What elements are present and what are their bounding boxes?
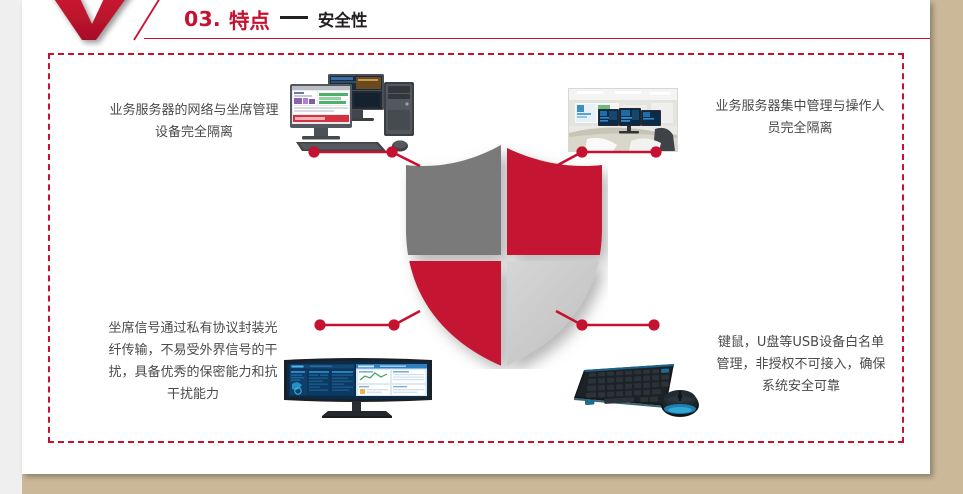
header-underline	[144, 38, 930, 39]
section-title: 特点	[229, 4, 270, 34]
title-dash-rule	[280, 16, 308, 19]
security-shield-graphic	[400, 143, 608, 369]
caption-top-right: 业务服务器集中管理与操作人员完全隔离	[712, 96, 888, 140]
caption-bottom-left: 坐席信号通过私有协议封装光纤传输，不易受外界信号的干扰，具备优秀的保密能力和抗干…	[104, 318, 282, 406]
header-slash-divider	[130, 0, 170, 42]
v-checkmark-logo	[32, 0, 142, 48]
section-number: 03.	[184, 7, 221, 31]
caption-bottom-right: 键鼠，U盘等USB设备白名单管理，非授权不可接入，确保系统安全可靠	[712, 332, 890, 398]
page-title: 03. 特点 安全性	[184, 2, 367, 36]
slide-header: 03. 特点 安全性	[22, 0, 930, 44]
slide-canvas: 03. 特点 安全性 业务服务器的网络与坐席管理设备完全隔离 业务服务器集中管理…	[0, 0, 963, 494]
caption-top-left: 业务服务器的网络与坐席管理设备完全隔离	[106, 100, 282, 144]
section-subtitle: 安全性	[318, 7, 368, 31]
left-margin-strip	[0, 0, 22, 494]
slide-surface: 03. 特点 安全性 业务服务器的网络与坐席管理设备完全隔离 业务服务器集中管理…	[22, 0, 930, 474]
